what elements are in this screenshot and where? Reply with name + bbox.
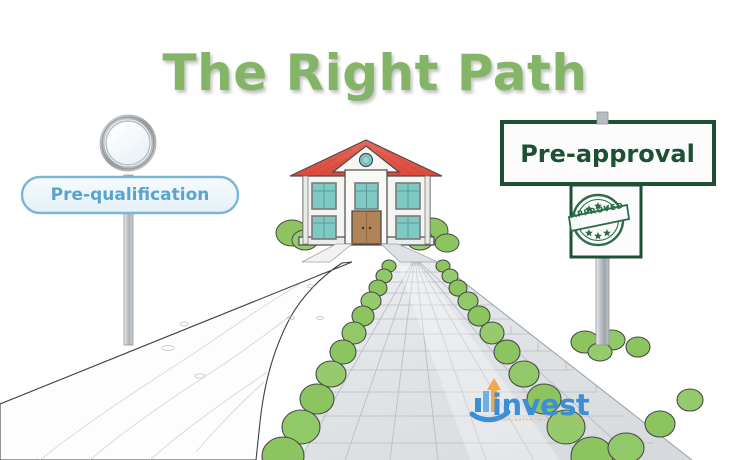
pre-qualification-label: Pre-qualification — [23, 185, 237, 205]
house-windows-upper — [312, 183, 420, 209]
circle-sign-icon — [102, 117, 154, 169]
pre-approval-label: Pre-approval — [505, 140, 710, 168]
page-title: The Right Path — [0, 44, 750, 102]
logo-tagline: SIMPLESTARTINVESTING.COM — [497, 417, 584, 422]
pre-approval-post-cap — [597, 112, 608, 124]
infographic-canvas: The Right Path Pre-qualification Pre-app… — [0, 0, 750, 460]
